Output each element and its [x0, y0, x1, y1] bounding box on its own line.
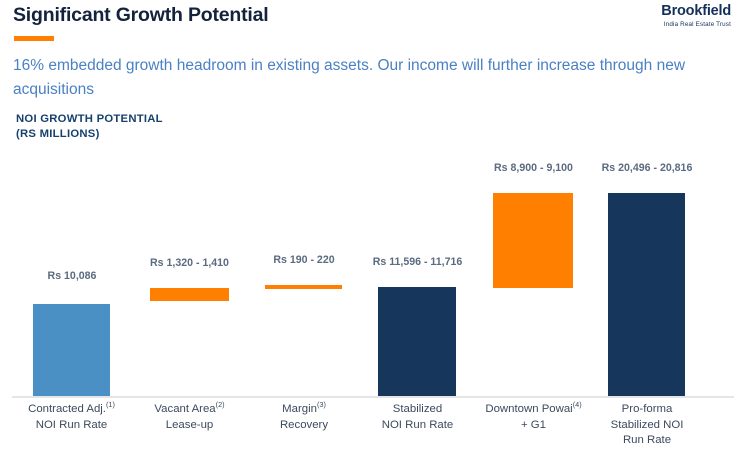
category-label-stabilized-noi-run-rate: StabilizedNOI Run Rate — [355, 402, 480, 433]
subtitle-text: 16% embedded growth headroom in existing… — [13, 54, 735, 102]
category-label-line: NOI Run Rate — [355, 418, 480, 434]
category-label-line: Vacant Area(2) — [127, 402, 252, 418]
category-label-line: NOI Run Rate — [9, 418, 134, 434]
bar-vacant-area-lease-up — [150, 288, 229, 301]
category-label-line: Lease-up — [127, 418, 252, 434]
category-label-line: Margin(3) — [242, 402, 366, 418]
bar-pro-forma-stabilized-noi — [608, 193, 685, 396]
category-label-margin-recovery: Margin(3)Recovery — [242, 402, 366, 433]
category-label-line: Stabilized NOI — [583, 418, 711, 434]
chart-category-axis: Contracted Adj.(1)NOI Run RateVacant Are… — [0, 402, 743, 458]
category-label-line: + G1 — [470, 418, 597, 434]
category-label-pro-forma-stabilized-noi: Pro-formaStabilized NOIRun Rate — [583, 402, 711, 449]
bar-value-label-downtown-powai-g1: Rs 8,900 - 9,100 — [471, 162, 596, 174]
bar-value-label-stabilized-noi-run-rate: Rs 11,596 - 11,716 — [355, 256, 480, 268]
footnote-marker: (4) — [573, 400, 582, 409]
noi-growth-waterfall-chart: Rs 10,086Rs 1,320 - 1,410Rs 190 - 220Rs … — [0, 150, 743, 458]
page-header: Significant Growth Potential Brookfield … — [0, 0, 743, 50]
bar-value-label-vacant-area-lease-up: Rs 1,320 - 1,410 — [127, 257, 252, 269]
bar-value-label-contracted-adj-noi-run-rate: Rs 10,086 — [10, 270, 134, 282]
footnote-marker: (2) — [216, 400, 225, 409]
category-label-line: Run Rate — [583, 433, 711, 449]
title-accent-rule — [14, 36, 54, 41]
chart-plot-area: Rs 10,086Rs 1,320 - 1,410Rs 190 - 220Rs … — [0, 150, 743, 400]
brand-tagline: India Real Estate Trust — [661, 20, 731, 29]
category-label-line: Contracted Adj.(1) — [9, 402, 134, 418]
brand-name: Brookfield — [661, 3, 731, 19]
bar-margin-recovery — [265, 285, 342, 289]
page-title: Significant Growth Potential — [13, 4, 269, 27]
category-label-vacant-area-lease-up: Vacant Area(2)Lease-up — [127, 402, 252, 433]
category-label-downtown-powai-g1: Downtown Powai(4)+ G1 — [470, 402, 597, 433]
footnote-marker: (3) — [317, 400, 326, 409]
category-label-line: Downtown Powai(4) — [470, 402, 597, 418]
bar-contracted-adj-noi-run-rate — [33, 304, 110, 396]
category-label-line: Recovery — [242, 418, 366, 434]
footnote-marker: (1) — [106, 400, 115, 409]
category-label-line: Pro-forma — [583, 402, 711, 418]
chart-heading: NOI GROWTH POTENTIAL(RS MILLIONS) — [16, 112, 163, 142]
bar-stabilized-noi-run-rate — [378, 287, 456, 396]
bar-value-label-pro-forma-stabilized-noi: Rs 20,496 - 20,816 — [583, 162, 711, 174]
category-label-line: Stabilized — [355, 402, 480, 418]
bar-value-label-margin-recovery: Rs 190 - 220 — [242, 254, 366, 266]
brookfield-logo: Brookfield India Real Estate Trust — [661, 3, 731, 29]
category-label-contracted-adj-noi-run-rate: Contracted Adj.(1)NOI Run Rate — [9, 402, 134, 433]
chart-baseline-axis — [12, 396, 734, 398]
chart-heading-line: NOI GROWTH POTENTIAL — [16, 112, 163, 127]
bar-downtown-powai-g1 — [493, 193, 573, 288]
chart-heading-line: (RS MILLIONS) — [16, 127, 163, 142]
